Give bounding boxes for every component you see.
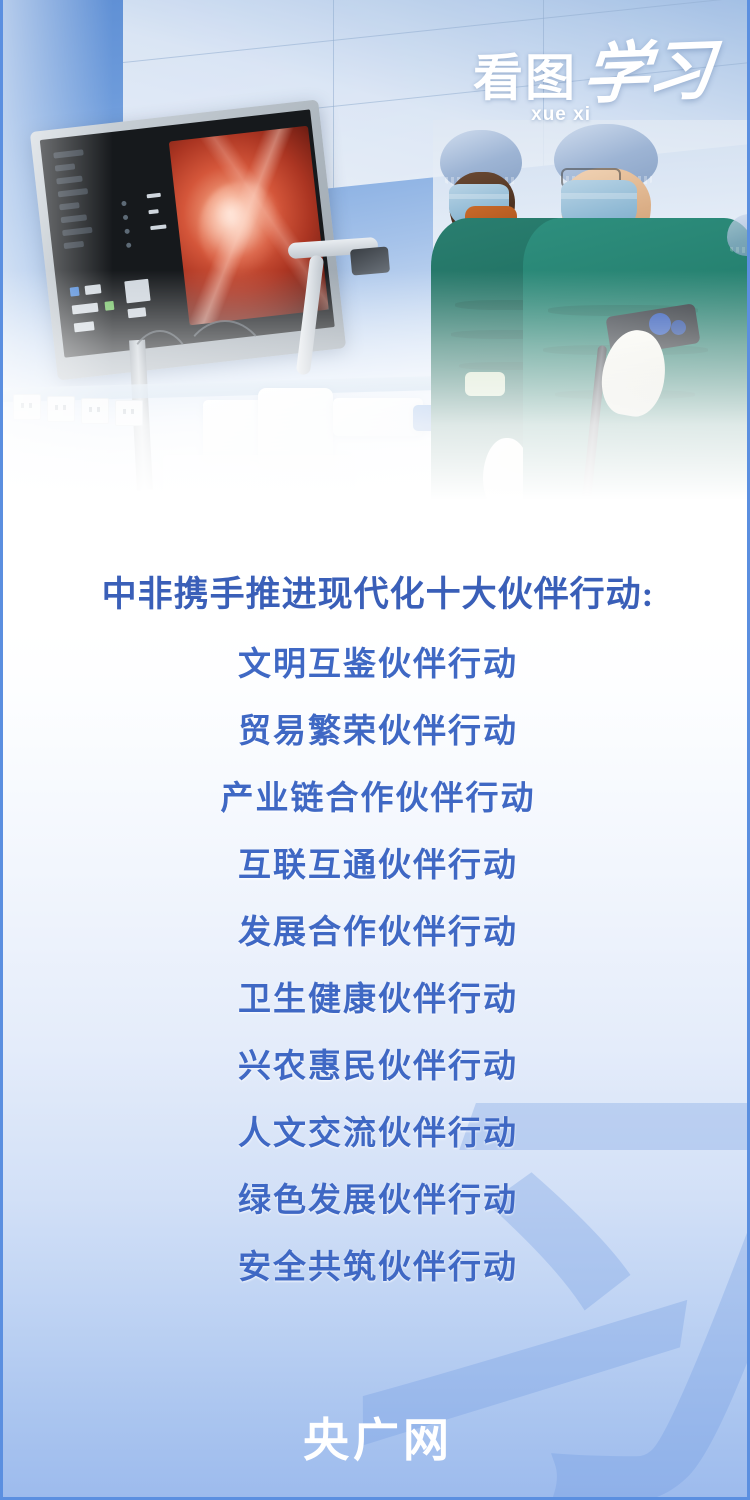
logo-pinyin: xue xi (473, 104, 591, 126)
list-item: 兴农惠民伙伴行动 (3, 1042, 750, 1109)
poster-root: 习 (0, 0, 750, 1500)
photo-bottom-fade (3, 270, 750, 520)
list-item: 绿色发展伙伴行动 (3, 1176, 750, 1243)
list-item: 人文交流伙伴行动 (3, 1109, 750, 1176)
list-item: 安全共筑伙伴行动 (3, 1243, 750, 1310)
page-title: 中非携手推进现代化十大伙伴行动: (3, 566, 750, 617)
logo-xuexi-script: 学习 (580, 44, 713, 105)
partnership-action-list: 文明互鉴伙伴行动 贸易繁荣伙伴行动 产业链合作伙伴行动 互联互通伙伴行动 发展合… (3, 640, 750, 1310)
publisher-logo: 央广网 (303, 1404, 453, 1470)
list-item: 文明互鉴伙伴行动 (3, 640, 750, 707)
list-item: 互联互通伙伴行动 (3, 841, 750, 908)
list-item: 产业链合作伙伴行动 (3, 774, 750, 841)
list-item: 卫生健康伙伴行动 (3, 975, 750, 1042)
list-item: 贸易繁荣伙伴行动 (3, 707, 750, 774)
brand-logo: 看图 学习 xue xi (473, 46, 711, 126)
footer-bar: 央广网 (3, 1377, 750, 1497)
list-item: 发展合作伙伴行动 (3, 908, 750, 975)
logo-kantu-text: 看图 (473, 55, 577, 103)
